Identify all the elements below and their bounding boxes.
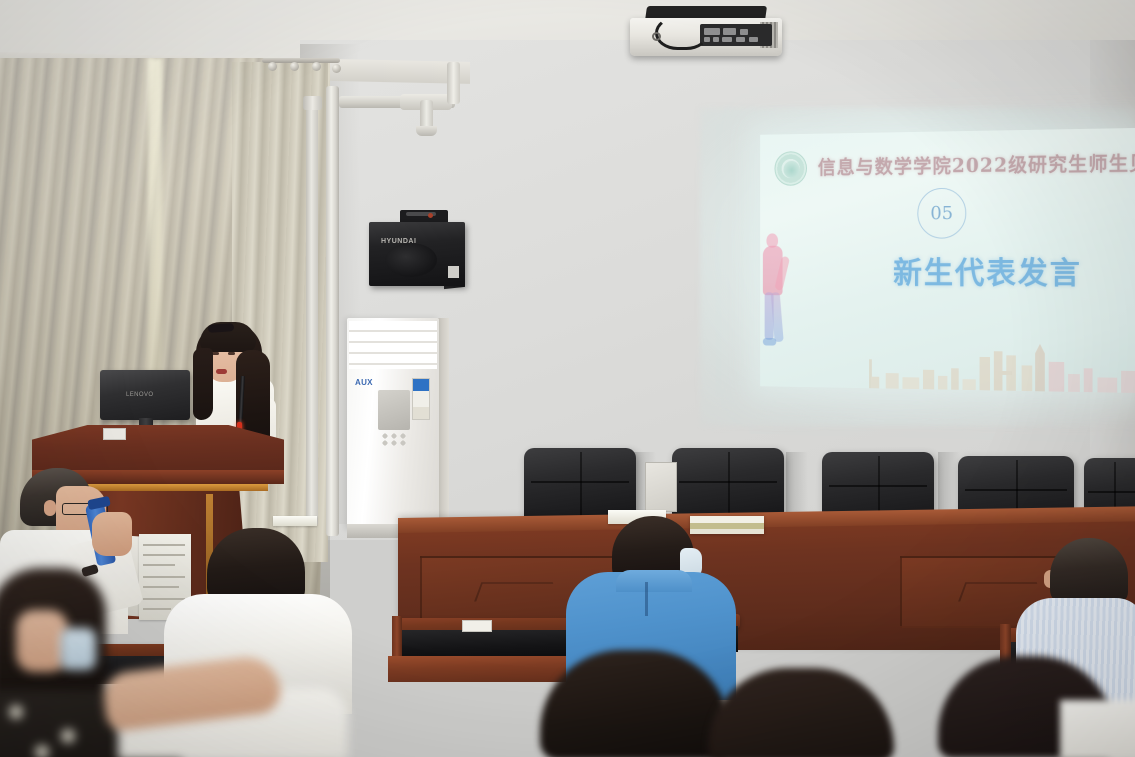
conference-room-photo: HYUNDAI AUX 信息与数学学院2022级研究生师生见面会 05 新生代表… — [0, 0, 1135, 757]
pipe-cap — [416, 126, 437, 136]
center-man-hair — [207, 528, 305, 604]
projector-port — [723, 28, 736, 35]
speaker-brand-label: HYUNDAI — [381, 238, 416, 245]
face-mask-icon — [60, 628, 96, 670]
desk-book-stack — [690, 516, 764, 534]
speaker-eye — [228, 352, 235, 355]
projector-port — [740, 29, 748, 35]
emblem-core — [783, 161, 799, 178]
ac-control-buttons[interactable] — [380, 432, 408, 446]
ac-brand-logo: AUX — [355, 378, 373, 387]
projector-port-panel — [700, 24, 772, 46]
monitor-brand-label: LENOVO — [126, 392, 153, 398]
projector-port — [749, 37, 758, 42]
polo-collar — [616, 570, 692, 592]
figure-shoe — [763, 338, 776, 346]
university-emblem-icon — [774, 151, 806, 186]
projector-port — [713, 37, 719, 42]
speaker-eye — [212, 352, 219, 355]
desk-papers — [273, 516, 317, 526]
projector-port — [722, 37, 732, 42]
slide-header-title: 信息与数学学院2022级研究生师生见面会 — [818, 146, 1135, 180]
slide-headline: 新生代表发言 — [893, 248, 1082, 293]
section-number: 05 — [917, 188, 966, 239]
ac-air-grille — [349, 321, 437, 369]
polo-placket — [645, 582, 648, 616]
curtain-ring — [332, 64, 341, 73]
walking-person-silhouette-icon — [762, 233, 785, 351]
projector-lens-knob — [652, 32, 661, 41]
ac-energy-label — [412, 378, 430, 420]
speaker-mouth — [216, 369, 227, 374]
panel-diamond-inlay — [958, 582, 1044, 601]
curtain-ring — [290, 62, 299, 71]
curtain-ring — [268, 62, 277, 71]
curtain-ring — [312, 62, 321, 71]
projector-port — [736, 37, 745, 42]
bench-seat-label — [462, 620, 492, 632]
wall-utility-box — [645, 462, 677, 512]
speaker-spec-label — [448, 266, 459, 278]
podium-top — [32, 424, 284, 476]
pipe-collar — [303, 96, 322, 110]
seated-man-hand — [92, 512, 132, 556]
ac-display-panel — [378, 390, 410, 430]
pipe-riser — [447, 62, 460, 104]
city-skyline-silhouette-icon — [869, 336, 1135, 393]
right-man-hair — [1050, 538, 1128, 604]
projector-cable — [655, 16, 709, 50]
projection-screen: 信息与数学学院2022级研究生师生见面会 05 新生代表发言 — [760, 128, 1135, 393]
speaker-hair-strand — [193, 348, 213, 420]
speaker-status-led — [428, 213, 433, 218]
podium-asset-label — [103, 428, 126, 440]
wall-pipe-secondary — [306, 96, 318, 526]
foreground-shirt — [1060, 700, 1135, 757]
speaker-cone — [385, 243, 437, 277]
wall-pipe-vertical — [326, 86, 339, 536]
seated-man-ear — [44, 500, 56, 516]
panel-diamond-inlay — [474, 582, 560, 601]
